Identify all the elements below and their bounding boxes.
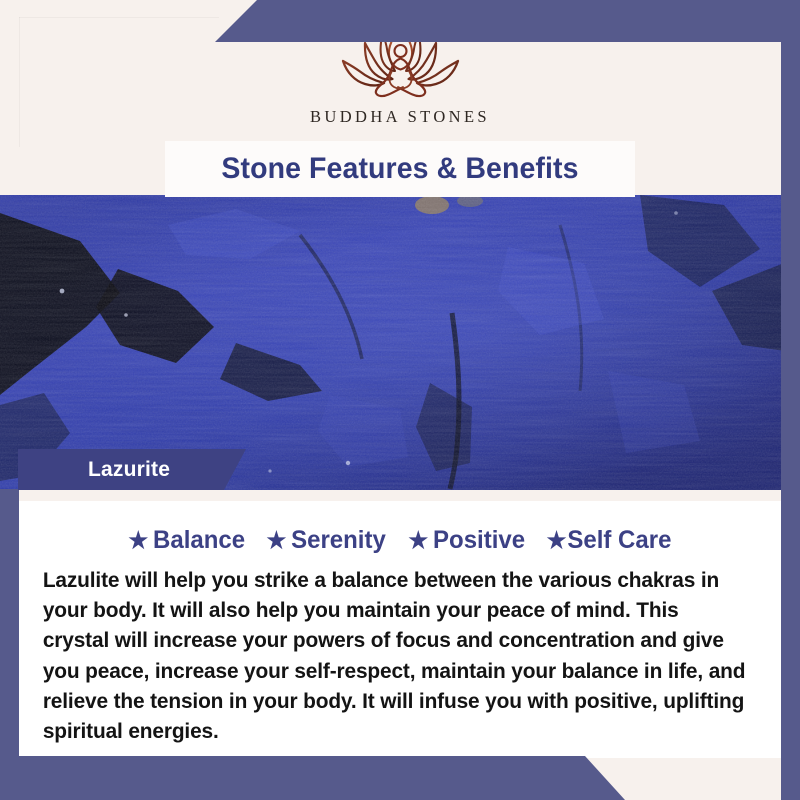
decor-band-bottom — [0, 756, 625, 800]
keyword-positive: ★ Positive — [408, 526, 525, 555]
keyword-label: Self Care — [568, 526, 672, 555]
poster-canvas: BUDDHA STONES Stone Features & Benefits — [0, 0, 800, 800]
brand-name: BUDDHA STONES — [310, 107, 490, 127]
page-title: Stone Features & Benefits — [221, 152, 578, 186]
card-top-tint — [18, 490, 782, 501]
keyword-label: Serenity — [291, 526, 386, 555]
keyword-balance: ★ Balance — [128, 526, 245, 555]
decor-band-right — [781, 0, 800, 800]
star-icon: ★ — [408, 529, 428, 552]
keyword-serenity: ★ Serenity — [267, 526, 386, 555]
decor-band-left — [0, 489, 19, 800]
content-card: ★ Balance ★ Serenity ★ Positive ★ Self C… — [18, 490, 782, 758]
keyword-list: ★ Balance ★ Serenity ★ Positive ★ Self C… — [32, 526, 768, 555]
stone-name-tag: Lazurite — [18, 449, 246, 490]
stone-photo — [0, 195, 800, 490]
keyword-label: Positive — [433, 526, 525, 555]
keyword-label: Balance — [153, 526, 245, 555]
stone-name-label: Lazurite — [18, 458, 170, 482]
stone-description: Lazulite will help you strike a balance … — [32, 566, 757, 747]
star-icon: ★ — [128, 529, 148, 552]
star-icon: ★ — [267, 529, 287, 552]
star-icon: ★ — [547, 529, 567, 552]
keyword-self-care: ★ Self Care — [547, 526, 672, 555]
decor-band-top — [215, 0, 800, 42]
page-title-panel: Stone Features & Benefits — [165, 141, 635, 197]
